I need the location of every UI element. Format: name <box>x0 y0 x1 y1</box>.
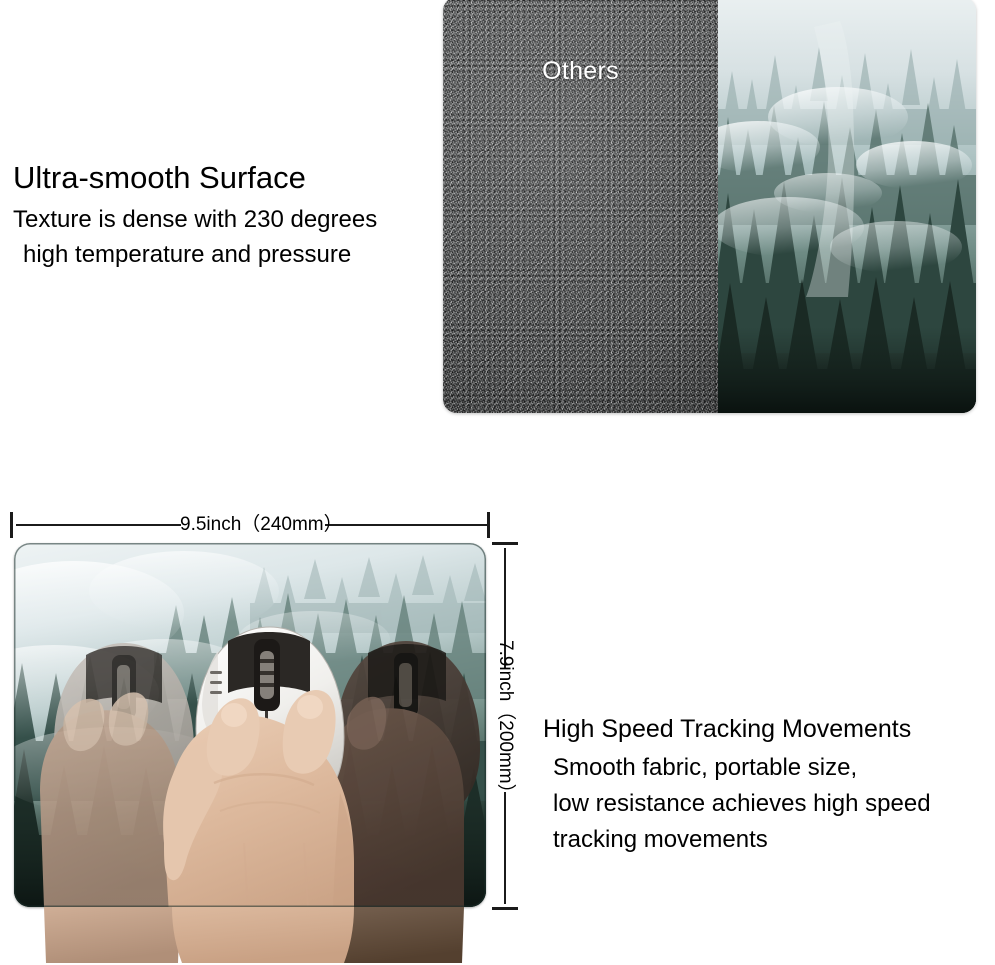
width-dimension: 9.5inch（240mm） <box>10 512 490 538</box>
width-dimension-rule-right <box>325 524 487 526</box>
width-dimension-cap-left <box>10 512 13 538</box>
forest-print-swatch <box>718 0 976 413</box>
mice-motion-trail <box>14 543 486 907</box>
tracking-feature-body-line3: tracking movements <box>543 822 993 858</box>
mousepad-photo <box>14 543 486 907</box>
surface-feature-text: Ultra-smooth Surface Texture is dense wi… <box>13 158 443 272</box>
tracking-feature-body: Smooth fabric, portable size, low resist… <box>543 750 993 858</box>
tracking-feature-text: High Speed Tracking Movements Smooth fab… <box>543 712 993 858</box>
width-dimension-label: 9.5inch（240mm） <box>180 512 330 538</box>
surface-feature-title: Ultra-smooth Surface <box>13 158 443 198</box>
tracking-feature-body-line2: low resistance achieves high speed <box>543 786 993 822</box>
surface-comparison-panel: Others <box>443 0 976 413</box>
others-fabric-swatch: Others <box>443 0 718 413</box>
misty-forest-illustration <box>718 0 976 413</box>
others-label: Others <box>443 57 718 86</box>
surface-feature-body-line1: Texture is dense with 230 degrees <box>13 206 377 233</box>
height-dimension-cap-top <box>492 542 518 545</box>
height-dimension: 7.9inch（200mm） <box>492 542 518 910</box>
surface-feature-body: Texture is dense with 230 degrees high t… <box>13 202 443 272</box>
width-dimension-rule-left <box>16 524 181 526</box>
height-dimension-cap-bottom <box>492 907 518 910</box>
height-dimension-rule-bottom <box>504 792 506 904</box>
tracking-feature-body-line1: Smooth fabric, portable size, <box>543 750 993 786</box>
height-dimension-label: 7.9inch（200mm） <box>492 640 518 790</box>
width-dimension-cap-right <box>487 512 490 538</box>
tracking-feature-title: High Speed Tracking Movements <box>543 712 993 746</box>
surface-feature-body-line2: high temperature and pressure <box>13 237 443 272</box>
